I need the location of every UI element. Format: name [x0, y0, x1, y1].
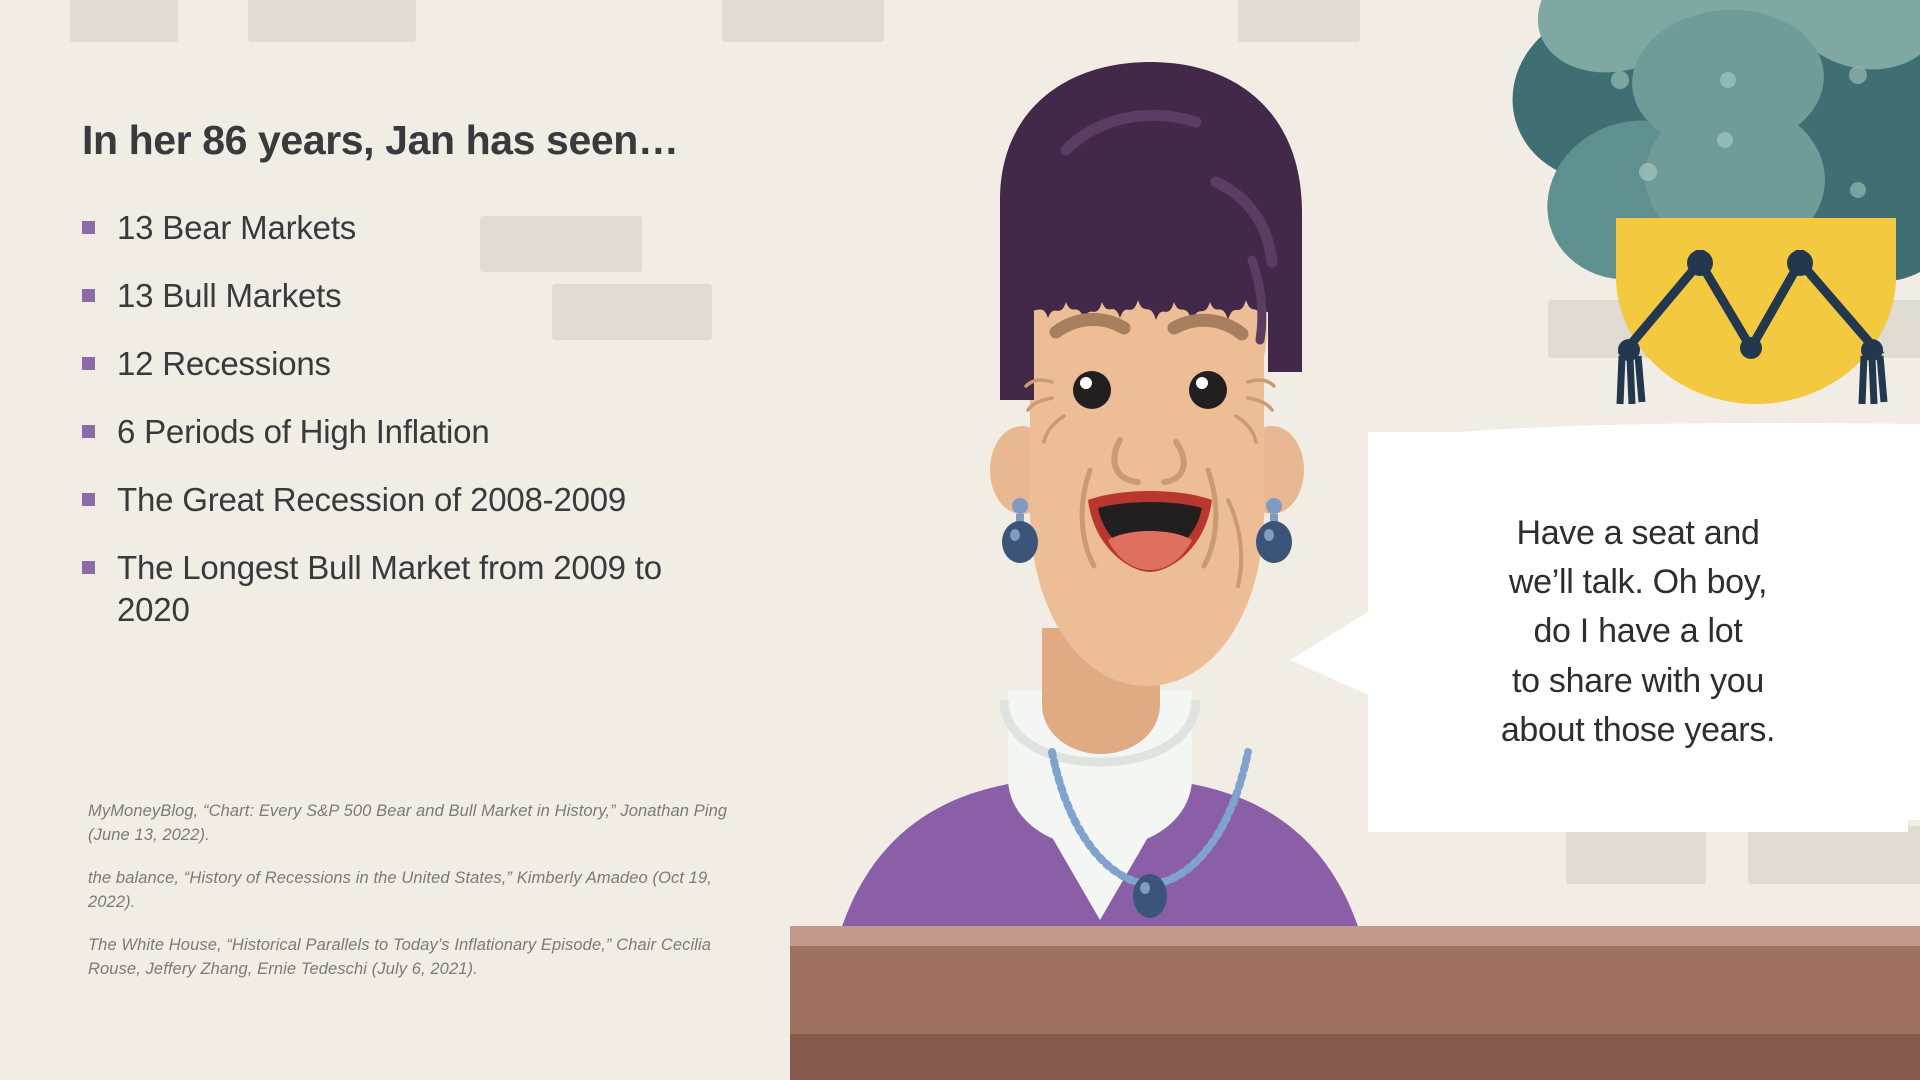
jan-illustration	[820, 62, 1380, 1080]
list-item: 13 Bull Markets	[82, 275, 882, 318]
wooden-desk	[790, 926, 1920, 1080]
citation: The White House, “Historical Parallels t…	[88, 934, 728, 982]
list-item-label: The Longest Bull Market from 2009 to 202…	[117, 547, 737, 633]
earring-left	[1002, 498, 1038, 563]
list-item: The Great Recession of 2008-2009	[82, 479, 882, 522]
list-item-label: The Great Recession of 2008-2009	[117, 479, 626, 522]
citation: the balance, “History of Recessions in t…	[88, 867, 728, 915]
speech-line: to share with you	[1512, 657, 1764, 706]
citation: MyMoneyBlog, “Chart: Every S&P 500 Bear …	[88, 800, 728, 848]
list-item-label: 13 Bear Markets	[117, 207, 356, 250]
speech-line: Have a seat and	[1516, 509, 1759, 558]
speech-line: about those years.	[1501, 706, 1775, 755]
left-content-column: In her 86 years, Jan has seen… 13 Bear M…	[82, 118, 882, 657]
speech-bubble: Have a seat and we’ll talk. Oh boy, do I…	[1368, 432, 1908, 832]
list-item: 12 Recessions	[82, 343, 882, 386]
sources-block: MyMoneyBlog, “Chart: Every S&P 500 Bear …	[88, 800, 728, 1001]
bullet-square-icon	[82, 221, 95, 234]
bullet-square-icon	[82, 561, 95, 574]
list-item: 6 Periods of High Inflation	[82, 411, 882, 454]
bullet-square-icon	[82, 357, 95, 370]
list-item-label: 12 Recessions	[117, 343, 331, 386]
earring-right	[1256, 498, 1292, 563]
speech-line: do I have a lot	[1533, 607, 1742, 656]
bullet-square-icon	[82, 425, 95, 438]
infographic-canvas: In her 86 years, Jan has seen… 13 Bear M…	[0, 0, 1920, 1080]
bullet-square-icon	[82, 289, 95, 302]
list-item: 13 Bear Markets	[82, 207, 882, 250]
list-item-label: 13 Bull Markets	[117, 275, 341, 318]
speech-line: we’ll talk. Oh boy,	[1509, 558, 1767, 607]
bullet-square-icon	[82, 493, 95, 506]
list-item-label: 6 Periods of High Inflation	[117, 411, 490, 454]
page-title: In her 86 years, Jan has seen…	[82, 118, 882, 163]
list-item: The Longest Bull Market from 2009 to 202…	[82, 547, 882, 633]
facts-list: 13 Bear Markets 13 Bull Markets 12 Reces…	[82, 207, 882, 632]
